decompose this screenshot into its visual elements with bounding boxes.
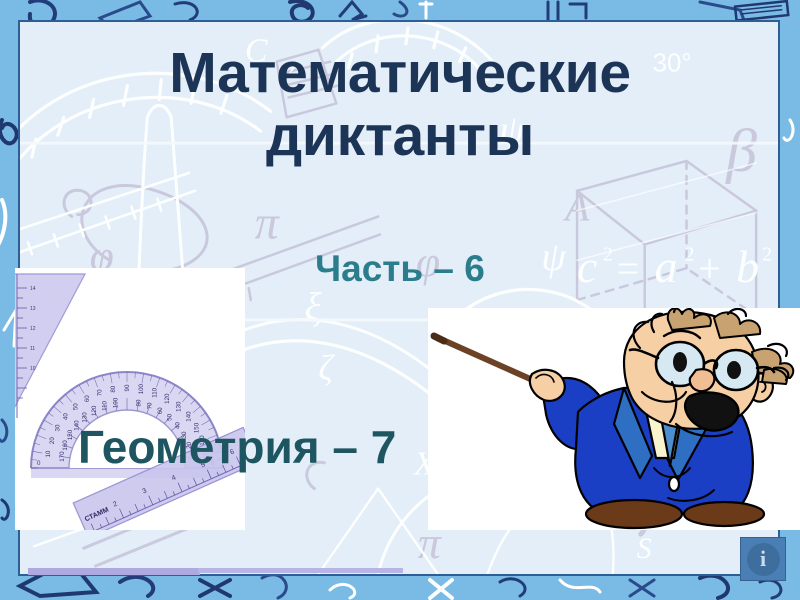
svg-text:14: 14 (30, 286, 36, 292)
svg-text:50: 50 (166, 413, 173, 420)
svg-text:120: 120 (91, 405, 98, 416)
svg-text:13: 13 (30, 306, 36, 312)
svg-text:π: π (255, 196, 280, 249)
svg-text:11: 11 (30, 346, 35, 352)
svg-text:160: 160 (62, 440, 69, 451)
svg-text:30: 30 (55, 424, 62, 431)
svg-text:+: + (698, 247, 720, 291)
svg-text:0: 0 (37, 460, 41, 467)
svg-text:=: = (617, 247, 639, 291)
svg-text:70: 70 (97, 389, 104, 396)
svg-text:φ: φ (416, 238, 440, 286)
svg-text:130: 130 (82, 412, 89, 423)
svg-text:80: 80 (135, 399, 142, 406)
svg-text:S: S (637, 532, 652, 565)
info-button[interactable]: i (740, 537, 786, 581)
svg-text:90: 90 (124, 384, 131, 391)
svg-text:100: 100 (113, 397, 120, 408)
svg-text:120: 120 (164, 393, 171, 404)
svg-text:ξ: ξ (304, 285, 321, 329)
svg-text:40: 40 (175, 422, 182, 429)
info-icon: i (747, 543, 780, 576)
bottom-ruler-strip-right (198, 568, 403, 573)
svg-text:170: 170 (59, 451, 66, 462)
svg-text:20: 20 (49, 437, 56, 444)
svg-text:150: 150 (193, 422, 200, 433)
svg-text:2: 2 (762, 243, 772, 265)
svg-text:140: 140 (185, 411, 192, 422)
svg-text:60: 60 (157, 407, 164, 414)
svg-text:110: 110 (151, 387, 158, 397)
svg-text:130: 130 (175, 401, 182, 412)
svg-text:b: b (736, 241, 759, 292)
svg-text:2: 2 (285, 59, 296, 83)
svg-text:2: 2 (603, 243, 613, 265)
svg-text:ζ: ζ (318, 347, 335, 387)
svg-text:30: 30 (181, 431, 188, 438)
svg-text:20: 20 (186, 441, 193, 448)
svg-text:12: 12 (30, 326, 36, 332)
protractor-photo: 14 13 12 11 10 (15, 268, 245, 530)
svg-text:140: 140 (73, 420, 80, 431)
svg-text:50: 50 (73, 403, 80, 410)
protractor-and-ruler-illustration: 14 13 12 11 10 (15, 268, 245, 530)
svg-text:60: 60 (84, 395, 91, 402)
svg-text:80: 80 (110, 385, 117, 392)
svg-text:10: 10 (45, 450, 52, 457)
svg-text:β: β (725, 117, 757, 185)
svg-text:100: 100 (138, 383, 145, 394)
professor-photo (428, 308, 800, 530)
presentation-slide: b 2 (0, 0, 800, 600)
svg-text:ψ: ψ (499, 108, 525, 152)
svg-text:30°: 30° (653, 50, 692, 78)
cartoon-professor-illustration (428, 308, 800, 530)
svg-text:C: C (245, 33, 268, 70)
svg-text:10: 10 (30, 366, 36, 372)
svg-text:ψ: ψ (541, 235, 567, 279)
svg-text:40: 40 (63, 413, 70, 420)
svg-text:110: 110 (101, 400, 108, 410)
svg-text:a: a (655, 241, 678, 292)
svg-text:70: 70 (147, 402, 154, 409)
svg-text:2: 2 (684, 243, 694, 265)
svg-text:c: c (577, 241, 597, 292)
bottom-ruler-strip-left (28, 568, 200, 575)
